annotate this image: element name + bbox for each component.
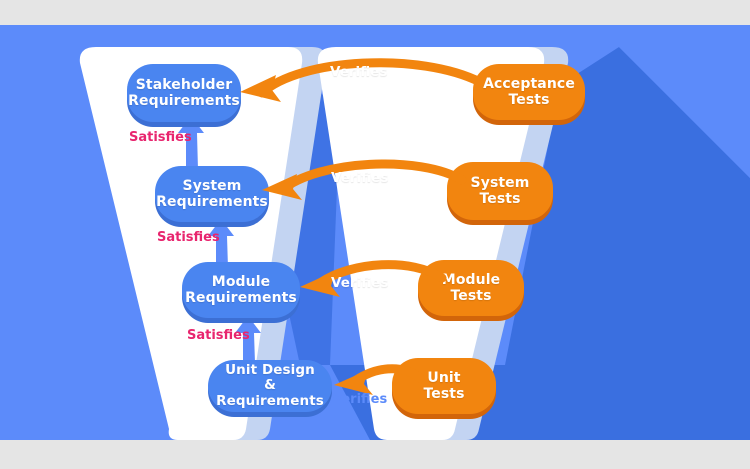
v-model-diagram: Stakeholder Requirements System Requirem… — [0, 0, 750, 465]
label-satisfies-2: Satisfies — [157, 230, 220, 245]
label-satisfies-3: Satisfies — [187, 328, 250, 343]
label-verifies-module: Verifies — [331, 275, 388, 291]
label-verifies-unit: Verifies — [332, 392, 387, 407]
label-verifies-acceptance: Verifies — [330, 64, 387, 80]
label-satisfies-1: Satisfies — [129, 130, 192, 145]
label-verifies-system: Verifies — [331, 170, 388, 186]
